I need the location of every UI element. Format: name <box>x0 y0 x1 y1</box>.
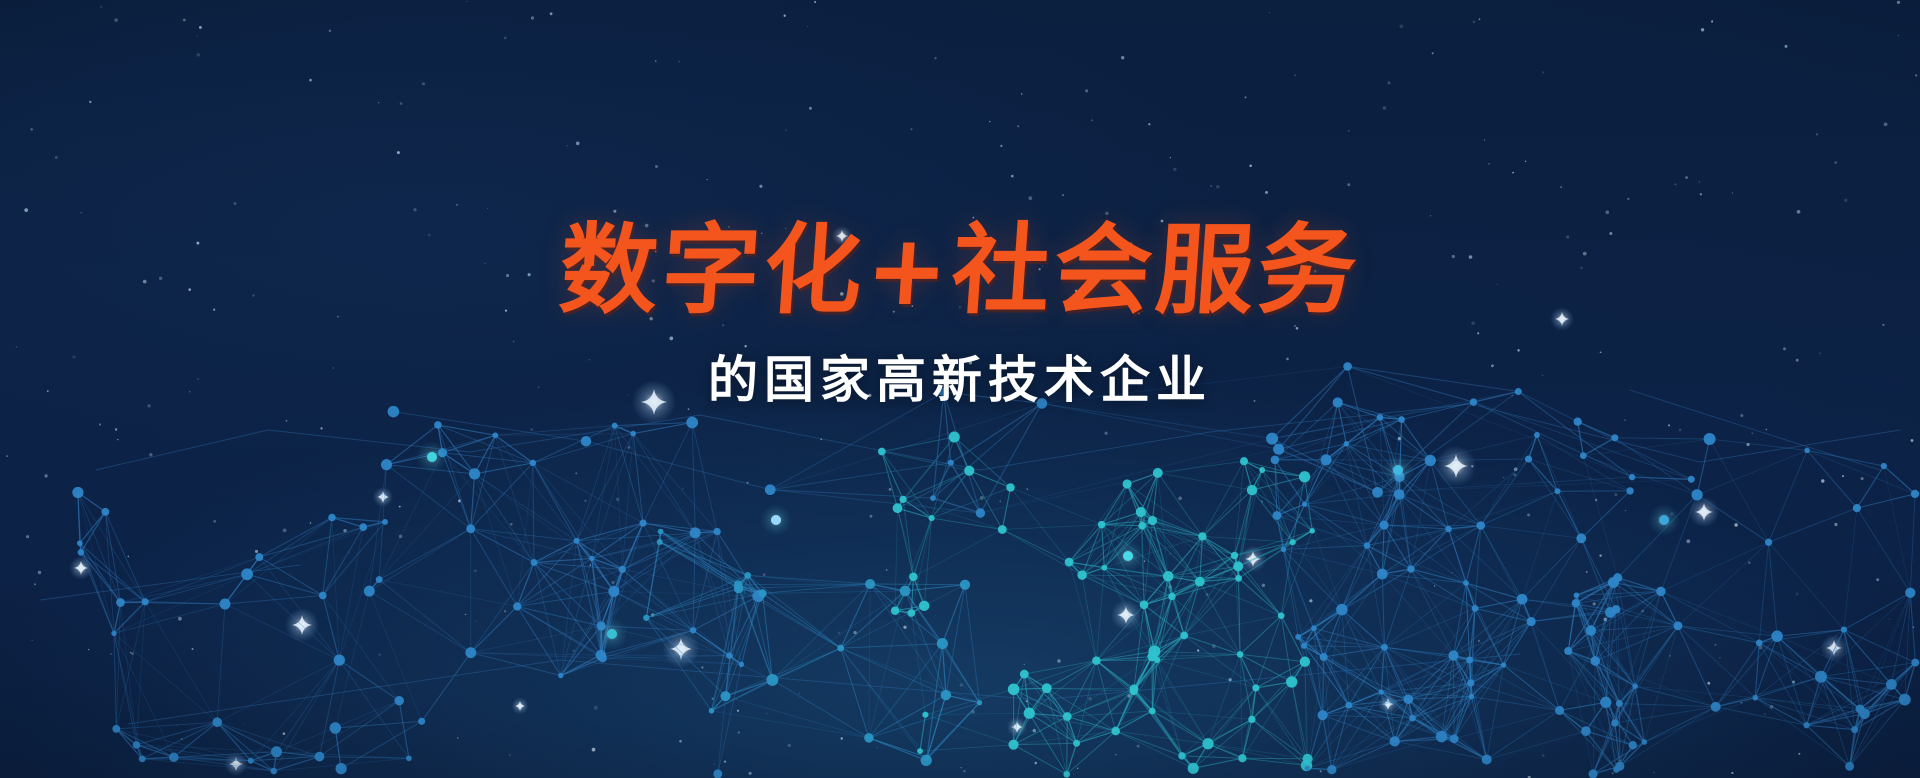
hero-text-block: 数字化+社会服务 的国家高新技术企业 <box>0 222 1920 412</box>
page-title: 数字化+社会服务 <box>0 222 1920 320</box>
hero-banner: 数字化+社会服务 的国家高新技术企业 <box>0 0 1920 778</box>
page-subtitle: 的国家高新技术企业 <box>0 340 1920 412</box>
